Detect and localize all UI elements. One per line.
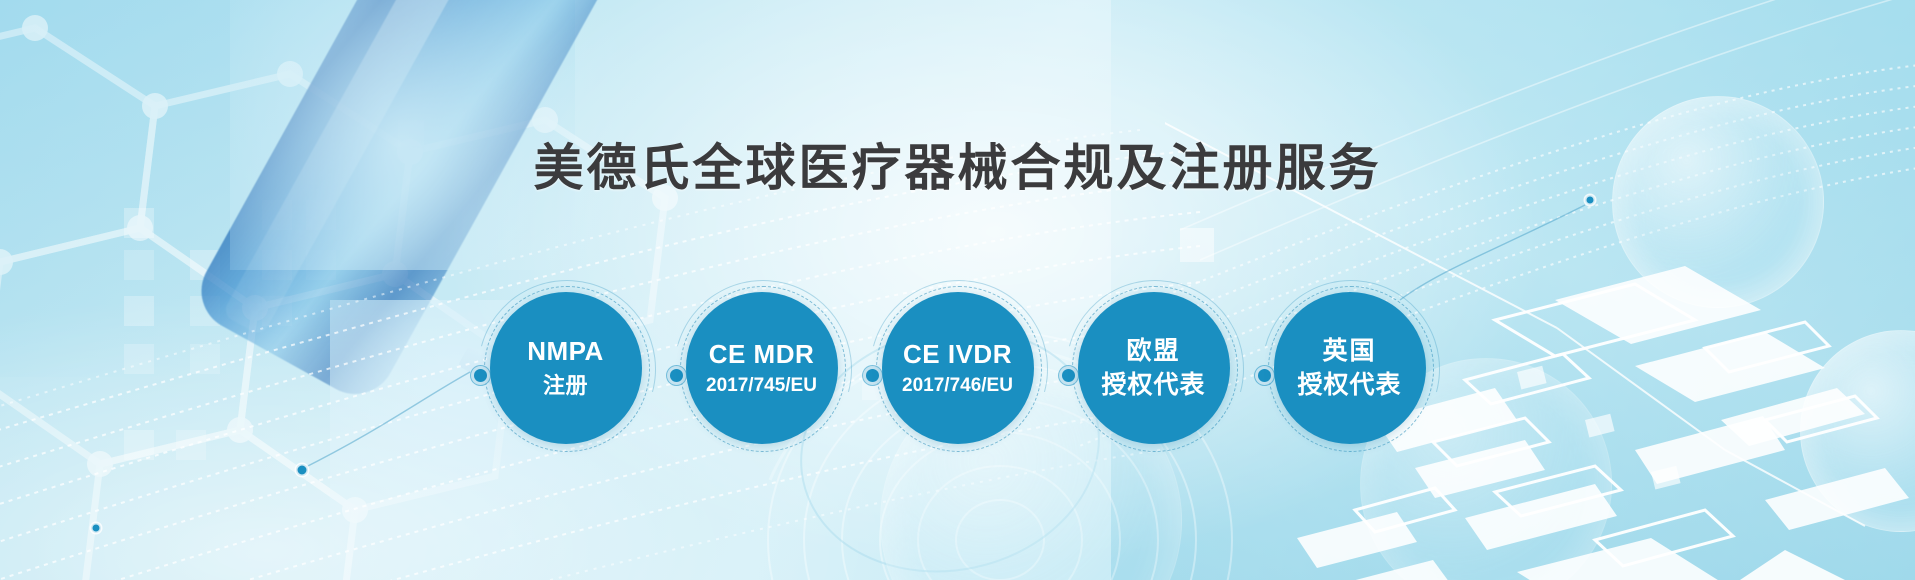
service-badge-eu-authorized-rep[interactable]: 欧盟 授权代表: [1069, 283, 1239, 453]
badge-line1: CE MDR: [709, 339, 815, 371]
badge-node-dot-icon: [863, 366, 882, 385]
badge-disc: 欧盟 授权代表: [1078, 292, 1230, 444]
badge-disc: 英国 授权代表: [1274, 292, 1426, 444]
badge-disc: CE IVDR 2017/746/EU: [882, 292, 1034, 444]
deco-square: [262, 200, 292, 230]
deco-square: [124, 208, 154, 238]
deco-square: [262, 250, 292, 280]
badge-line2: 2017/746/EU: [902, 374, 1013, 397]
service-badge-row: NMPA 注册 CE MDR 2017/745/EU CE IVDR 2017/…: [0, 283, 1915, 453]
service-badge-ce-ivdr[interactable]: CE IVDR 2017/746/EU: [873, 283, 1043, 453]
badge-line2: 2017/745/EU: [706, 374, 817, 397]
badge-disc: CE MDR 2017/745/EU: [686, 292, 838, 444]
deco-square: [124, 250, 154, 280]
badge-disc: NMPA 注册: [490, 292, 642, 444]
badge-node-dot-icon: [471, 366, 490, 385]
badge-line1: CE IVDR: [903, 339, 1012, 371]
service-badge-ce-mdr[interactable]: CE MDR 2017/745/EU: [677, 283, 847, 453]
badge-line1: 欧盟: [1126, 336, 1180, 367]
deco-square: [190, 250, 220, 280]
banner-hero: 美德氏全球医疗器械合规及注册服务 NMPA 注册 CE MDR 2017/745…: [0, 0, 1915, 580]
page-title: 美德氏全球医疗器械合规及注册服务: [0, 128, 1915, 200]
service-badge-nmpa[interactable]: NMPA 注册: [481, 283, 651, 453]
badge-line2: 注册: [543, 373, 588, 400]
deco-square: [1180, 228, 1214, 262]
service-badge-uk-authorized-rep[interactable]: 英国 授权代表: [1265, 283, 1435, 453]
badge-node-dot-icon: [667, 366, 686, 385]
badge-node-dot-icon: [1059, 366, 1078, 385]
badge-line2: 授权代表: [1297, 370, 1401, 401]
badge-line2: 授权代表: [1101, 370, 1205, 401]
deco-square: [306, 250, 336, 280]
badge-line1: 英国: [1322, 336, 1376, 367]
badge-node-dot-icon: [1255, 366, 1274, 385]
badge-line1: NMPA: [527, 336, 604, 368]
deco-square: [306, 200, 336, 230]
